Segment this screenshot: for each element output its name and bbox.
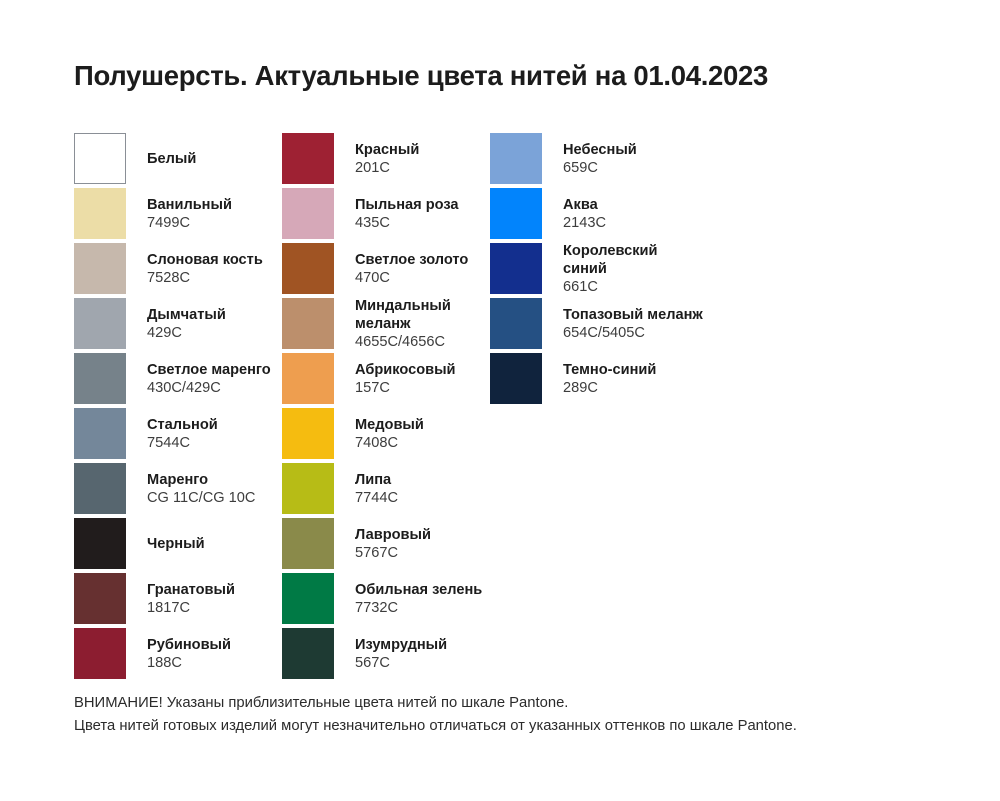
color-code: 1817C (147, 599, 235, 617)
color-swatch (282, 353, 334, 404)
color-row: МаренгоCG 11C/CG 10C (74, 463, 282, 514)
color-row: Миндальный меланж4655C/4656C (282, 298, 490, 349)
color-column-2: Красный201CПыльная роза435CСветлое золот… (282, 133, 490, 683)
color-code: 7744C (355, 489, 398, 507)
color-row-text: Красный201C (355, 133, 419, 185)
color-code: 7528C (147, 269, 263, 287)
color-row-text: Белый (147, 133, 196, 185)
color-name: Слоновая кость (147, 252, 263, 270)
color-name: Топазовый меланж (563, 307, 703, 325)
color-column-1: БелыйВанильный7499CСлоновая кость7528CДы… (74, 133, 282, 683)
color-name: Миндальный меланж (355, 298, 490, 333)
color-swatch (490, 243, 542, 294)
color-row: Изумрудный567C (282, 628, 490, 679)
color-code: 7408C (355, 434, 424, 452)
color-swatch (490, 133, 542, 184)
color-row-text: Светлое золото470C (355, 243, 468, 295)
color-row-text: Светлое маренго430C/429C (147, 353, 271, 405)
color-swatch (282, 133, 334, 184)
color-code: 7544C (147, 434, 218, 452)
color-swatch (74, 243, 126, 294)
color-code: 157C (355, 379, 456, 397)
color-name: Липа (355, 472, 398, 490)
color-row-text: Медовый7408C (355, 408, 424, 460)
color-code: 661C (563, 278, 698, 296)
color-swatch (74, 133, 126, 184)
color-swatch (282, 628, 334, 679)
color-row: Светлое золото470C (282, 243, 490, 294)
color-code: 435C (355, 214, 459, 232)
color-row-text: Небесный659C (563, 133, 637, 185)
color-swatch (74, 463, 126, 514)
color-code: CG 11C/CG 10C (147, 489, 255, 507)
color-code: 7732C (355, 599, 482, 617)
footer-note: ВНИМАНИЕ! Указаны приблизительные цвета … (74, 692, 954, 738)
color-row-text: Обильная зелень7732C (355, 573, 482, 625)
color-row: Светлое маренго430C/429C (74, 353, 282, 404)
color-row-text: Темно-синий289C (563, 353, 656, 405)
color-row: Рубиновый188C (74, 628, 282, 679)
color-row: Стальной7544C (74, 408, 282, 459)
color-row: Медовый7408C (282, 408, 490, 459)
color-code: 201C (355, 159, 419, 177)
color-code: 188C (147, 654, 231, 672)
color-code: 2143C (563, 214, 606, 232)
color-row: Дымчатый429C (74, 298, 282, 349)
color-swatch (74, 628, 126, 679)
footer-line-1: ВНИМАНИЕ! Указаны приблизительные цвета … (74, 692, 954, 715)
color-row-text: Лавровый5767C (355, 518, 431, 570)
color-row-text: Черный (147, 518, 205, 570)
color-code: 289C (563, 379, 656, 397)
color-row-text: Рубиновый188C (147, 628, 231, 680)
color-swatch (282, 243, 334, 294)
color-name: Светлое золото (355, 252, 468, 270)
color-swatch (74, 353, 126, 404)
color-row-text: Аква2143C (563, 188, 606, 240)
color-name: Красный (355, 142, 419, 160)
color-row: Аква2143C (490, 188, 790, 239)
color-row: Черный (74, 518, 282, 569)
color-row-text: Гранатовый1817C (147, 573, 235, 625)
color-row: Небесный659C (490, 133, 790, 184)
color-columns: БелыйВанильный7499CСлоновая кость7528CДы… (74, 133, 974, 683)
color-row-text: Стальной7544C (147, 408, 218, 460)
color-code: 5767C (355, 544, 431, 562)
color-row-text: Топазовый меланж654C/5405C (563, 298, 703, 350)
color-row-text: Миндальный меланж4655C/4656C (355, 298, 490, 349)
color-name: Ванильный (147, 197, 232, 215)
color-name: Черный (147, 536, 205, 554)
color-row-text: Слоновая кость7528C (147, 243, 263, 295)
color-code: 567C (355, 654, 447, 672)
color-code: 654C/5405C (563, 324, 703, 342)
color-swatch (490, 298, 542, 349)
color-row: Темно-синий289C (490, 353, 790, 404)
color-row-text: Абрикосовый157C (355, 353, 456, 405)
color-name: Королевский синий (563, 243, 698, 278)
footer-line-2: Цвета нитей готовых изделий могут незнач… (74, 715, 954, 738)
page-title: Полушерсть. Актуальные цвета нитей на 01… (74, 60, 768, 92)
color-swatch (282, 298, 334, 349)
color-swatch (282, 463, 334, 514)
color-code: 659C (563, 159, 637, 177)
color-row-text: Пыльная роза435C (355, 188, 459, 240)
color-row-text: Липа7744C (355, 463, 398, 515)
color-name: Изумрудный (355, 637, 447, 655)
color-row: Слоновая кость7528C (74, 243, 282, 294)
color-row-text: Изумрудный567C (355, 628, 447, 680)
color-swatch (490, 353, 542, 404)
color-row: Лавровый5767C (282, 518, 490, 569)
color-code: 470C (355, 269, 468, 287)
color-row-text: Ванильный7499C (147, 188, 232, 240)
color-name: Маренго (147, 472, 255, 490)
color-swatch (490, 188, 542, 239)
color-row: Топазовый меланж654C/5405C (490, 298, 790, 349)
color-row: Обильная зелень7732C (282, 573, 490, 624)
color-name: Медовый (355, 417, 424, 435)
color-swatch (74, 188, 126, 239)
color-name: Пыльная роза (355, 197, 459, 215)
color-swatch (74, 518, 126, 569)
color-code: 7499C (147, 214, 232, 232)
color-swatch (282, 518, 334, 569)
color-row: Пыльная роза435C (282, 188, 490, 239)
color-column-3: Небесный659CАква2143CКоролевский синий66… (490, 133, 790, 408)
color-name: Абрикосовый (355, 362, 456, 380)
color-code: 430C/429C (147, 379, 271, 397)
color-row: Красный201C (282, 133, 490, 184)
color-row-text: МаренгоCG 11C/CG 10C (147, 463, 255, 515)
color-swatch (282, 188, 334, 239)
color-name: Белый (147, 151, 196, 169)
color-swatch (282, 573, 334, 624)
color-name: Обильная зелень (355, 582, 482, 600)
color-swatch (74, 573, 126, 624)
color-swatch (74, 298, 126, 349)
color-swatch (74, 408, 126, 459)
color-swatch (282, 408, 334, 459)
color-name: Стальной (147, 417, 218, 435)
color-code: 429C (147, 324, 226, 342)
color-row: Ванильный7499C (74, 188, 282, 239)
color-name: Аква (563, 197, 606, 215)
color-code: 4655C/4656C (355, 333, 490, 351)
color-name: Небесный (563, 142, 637, 160)
color-row-text: Дымчатый429C (147, 298, 226, 350)
color-row-text: Королевский синий661C (563, 243, 698, 294)
color-row: Белый (74, 133, 282, 184)
color-name: Дымчатый (147, 307, 226, 325)
color-name: Лавровый (355, 527, 431, 545)
color-name: Рубиновый (147, 637, 231, 655)
color-row: Королевский синий661C (490, 243, 790, 294)
color-row: Абрикосовый157C (282, 353, 490, 404)
color-row: Гранатовый1817C (74, 573, 282, 624)
color-name: Гранатовый (147, 582, 235, 600)
color-name: Светлое маренго (147, 362, 271, 380)
color-name: Темно-синий (563, 362, 656, 380)
color-chart-page: Полушерсть. Актуальные цвета нитей на 01… (0, 0, 1000, 801)
color-row: Липа7744C (282, 463, 490, 514)
